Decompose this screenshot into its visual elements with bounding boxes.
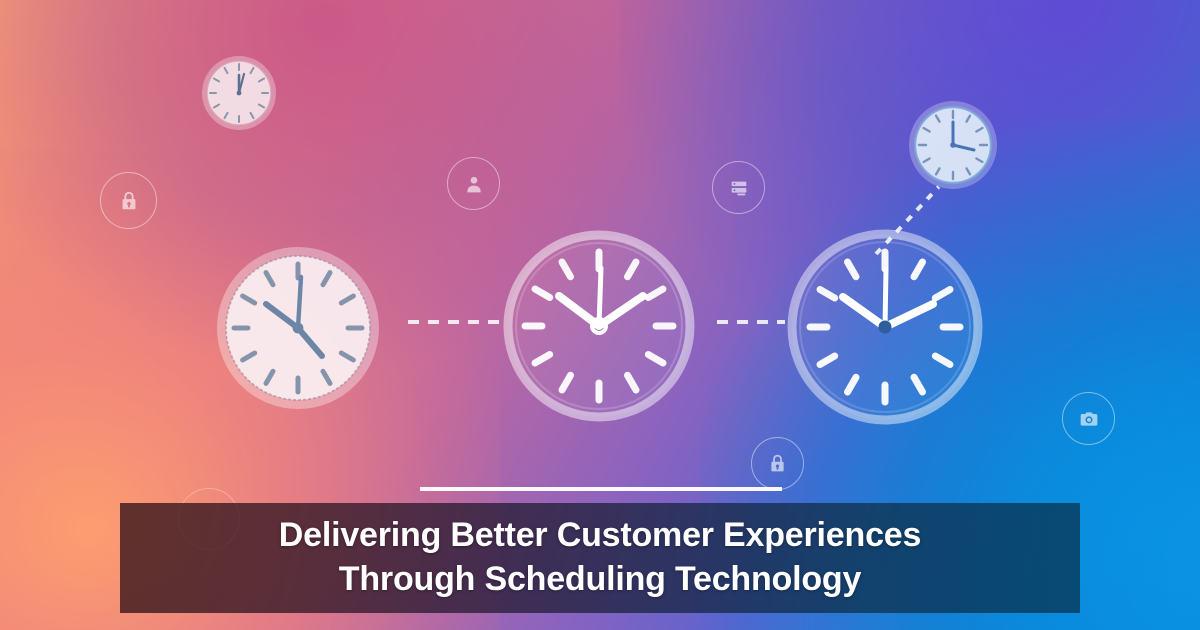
- server-icon: [728, 177, 750, 199]
- banner-divider-rule: [420, 487, 782, 491]
- camera-bubble-right: [1062, 392, 1115, 445]
- lock-bubble-left: [100, 172, 157, 229]
- lock-icon: [767, 453, 788, 474]
- page-title-line-1: Delivering Better Customer Experiences: [279, 514, 921, 558]
- clock-large-right: [785, 227, 985, 427]
- server-bubble-center: [712, 161, 765, 214]
- camera-icon: [1079, 409, 1099, 429]
- clock-small-top-right: [906, 98, 1000, 192]
- page-title-line-2: Through Scheduling Technology: [339, 558, 861, 602]
- poster-canvas: Delivering Better Customer Experiences T…: [0, 0, 1200, 630]
- title-banner: Delivering Better Customer Experiences T…: [120, 503, 1080, 613]
- lock-bubble-bottom: [751, 437, 804, 490]
- user-bubble-center: [447, 157, 500, 210]
- user-icon: [464, 174, 484, 194]
- connector-left-to-center: [408, 320, 500, 324]
- connector-center-to-right: [717, 320, 785, 324]
- clock-large-center: [501, 228, 697, 424]
- lock-icon: [118, 190, 140, 212]
- clock-large-left: [213, 243, 383, 413]
- clock-small-top-left: [199, 53, 279, 133]
